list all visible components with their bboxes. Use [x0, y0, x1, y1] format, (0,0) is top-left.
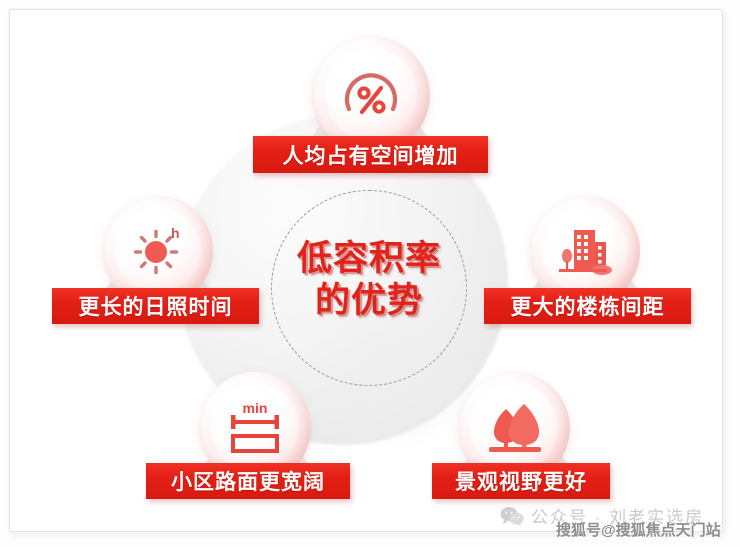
- node-bottom-right-label: 景观视野更好: [432, 463, 610, 499]
- node-right-label-text: 更大的楼栋间距: [511, 291, 665, 321]
- node-bottom-left-label: 小区路面更宽阔: [146, 463, 350, 499]
- node-bottom-right-label-text: 景观视野更好: [455, 466, 587, 496]
- node-right-label: 更大的楼栋间距: [484, 288, 691, 324]
- percent-gauge-icon: [339, 63, 403, 127]
- trees-icon: [483, 400, 545, 456]
- node-top-label: 人均占有空间增加: [253, 136, 488, 173]
- node-top-label-text: 人均占有空间增加: [283, 140, 459, 170]
- svg-text:min: min: [243, 400, 268, 416]
- min-width-ruler-icon: min: [223, 399, 287, 457]
- sohu-watermark: 搜狐号@搜狐焦点天门站: [556, 519, 721, 540]
- node-left-label: 更长的日照时间: [52, 288, 259, 324]
- center-title: 低容积率 的优势: [255, 238, 483, 321]
- node-bottom-left-label-text: 小区路面更宽阔: [171, 466, 325, 496]
- buildings-icon: [554, 220, 616, 282]
- center-title-line1: 低容积率: [297, 239, 441, 278]
- svg-text:h: h: [171, 225, 180, 241]
- infographic-canvas: 低容积率 的优势 人均占有空间增加: [0, 0, 740, 547]
- wechat-icon: [500, 506, 524, 526]
- node-left-label-text: 更长的日照时间: [79, 291, 233, 321]
- sun-hours-icon: h: [128, 221, 188, 281]
- sohu-watermark-text: 搜狐号@搜狐焦点天门站: [556, 522, 721, 539]
- center-title-line2: 的优势: [255, 280, 483, 322]
